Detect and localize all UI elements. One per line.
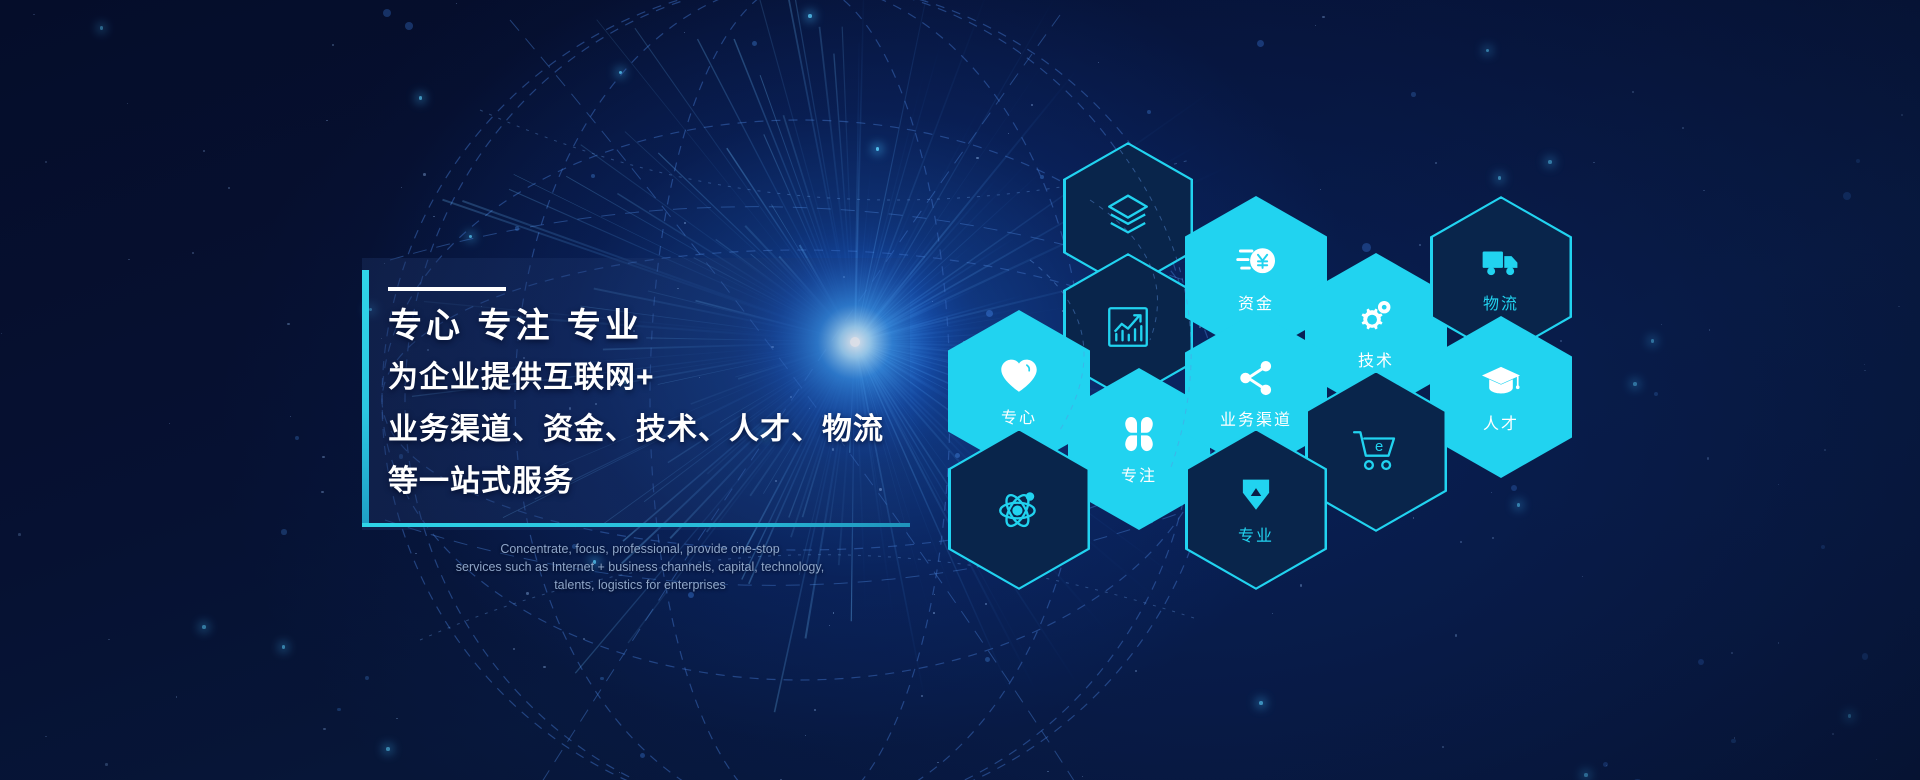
clover-icon	[1118, 413, 1160, 455]
heart-icon	[998, 355, 1040, 397]
hexagon-cluster: 资金技术物流人才专心专注业务渠道e专业	[0, 0, 1920, 780]
e-cart-icon: e	[1351, 426, 1401, 476]
gears-icon	[1355, 298, 1397, 340]
atom-icon	[994, 484, 1044, 534]
yen-coin-icon	[1235, 241, 1277, 283]
hex-label-rencai: 人才	[1483, 410, 1519, 434]
hex-label-zhuanye: 专业	[1238, 522, 1274, 546]
share-nodes-icon	[1235, 357, 1277, 399]
hex-label-jishu: 技术	[1358, 347, 1394, 371]
hex-label-zhuanxin: 专心	[1001, 404, 1037, 428]
graduation-cap-icon	[1480, 361, 1522, 403]
truck-icon	[1480, 241, 1522, 283]
hex-label-wuliu: 物流	[1483, 290, 1519, 314]
hex-tile-rencai[interactable]: 人才	[1430, 316, 1572, 478]
hex-label-zhuanzhu: 专注	[1121, 462, 1157, 486]
layers-icon	[1103, 191, 1153, 241]
hex-label-yewu: 业务渠道	[1220, 406, 1292, 430]
hero-banner: 专心 专注 专业 为企业提供互联网+ 业务渠道、资金、技术、人才、物流 等一站式…	[0, 0, 1920, 780]
svg-text:e: e	[1375, 439, 1383, 455]
growth-chart-icon	[1103, 302, 1153, 352]
hex-label-zijin: 资金	[1238, 290, 1274, 314]
diamond-icon	[1235, 473, 1277, 515]
